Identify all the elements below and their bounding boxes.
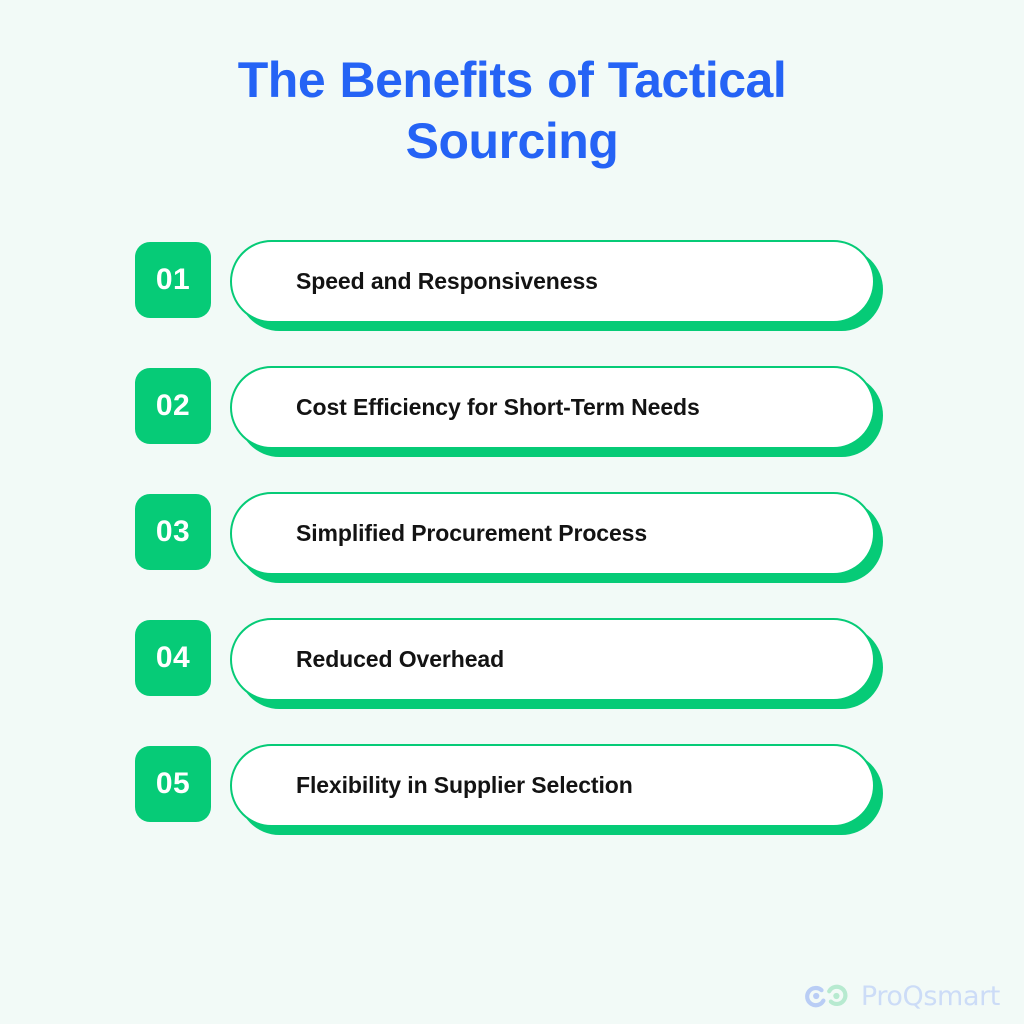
item-number: 03 xyxy=(156,517,190,547)
item-number-badge: 02 xyxy=(135,368,211,444)
item-label: Cost Efficiency for Short-Term Needs xyxy=(232,395,700,420)
item-number: 04 xyxy=(156,643,190,673)
item-pill-surface[interactable]: Speed and Responsiveness xyxy=(230,240,875,323)
item-pill[interactable]: Cost Efficiency for Short-Term Needs xyxy=(230,360,890,456)
item-pill-surface[interactable]: Reduced Overhead xyxy=(230,618,875,701)
item-label: Speed and Responsiveness xyxy=(232,269,598,294)
dual-arc-circles-icon xyxy=(802,982,852,1010)
item-number: 01 xyxy=(156,265,190,295)
list-item[interactable]: 02 Cost Efficiency for Short-Term Needs xyxy=(0,368,1024,446)
brand-name: ProQsmart xyxy=(861,983,1000,1010)
item-pill[interactable]: Simplified Procurement Process xyxy=(230,486,890,582)
page-title: The Benefits of Tactical Sourcing xyxy=(0,50,1024,172)
item-number-badge: 01 xyxy=(135,242,211,318)
list-item[interactable]: 01 Speed and Responsiveness xyxy=(0,242,1024,320)
item-number-badge: 05 xyxy=(135,746,211,822)
item-number-badge: 04 xyxy=(135,620,211,696)
list-item[interactable]: 05 Flexibility in Supplier Selection xyxy=(0,746,1024,824)
item-label: Simplified Procurement Process xyxy=(232,521,647,546)
benefits-list: 01 Speed and Responsiveness 02 Cost Effi… xyxy=(0,242,1024,824)
infographic-poster: The Benefits of Tactical Sourcing 01 Spe… xyxy=(0,0,1024,1024)
item-label: Reduced Overhead xyxy=(232,647,504,672)
brand-logo: ProQsmart xyxy=(802,982,1000,1010)
item-pill[interactable]: Reduced Overhead xyxy=(230,612,890,708)
item-pill[interactable]: Speed and Responsiveness xyxy=(230,234,890,330)
item-pill-surface[interactable]: Flexibility in Supplier Selection xyxy=(230,744,875,827)
item-pill[interactable]: Flexibility in Supplier Selection xyxy=(230,738,890,834)
item-number: 05 xyxy=(156,769,190,799)
item-number: 02 xyxy=(156,391,190,421)
item-number-badge: 03 xyxy=(135,494,211,570)
item-pill-surface[interactable]: Cost Efficiency for Short-Term Needs xyxy=(230,366,875,449)
title-block: The Benefits of Tactical Sourcing xyxy=(0,50,1024,172)
item-label: Flexibility in Supplier Selection xyxy=(232,773,633,798)
item-pill-surface[interactable]: Simplified Procurement Process xyxy=(230,492,875,575)
list-item[interactable]: 03 Simplified Procurement Process xyxy=(0,494,1024,572)
list-item[interactable]: 04 Reduced Overhead xyxy=(0,620,1024,698)
